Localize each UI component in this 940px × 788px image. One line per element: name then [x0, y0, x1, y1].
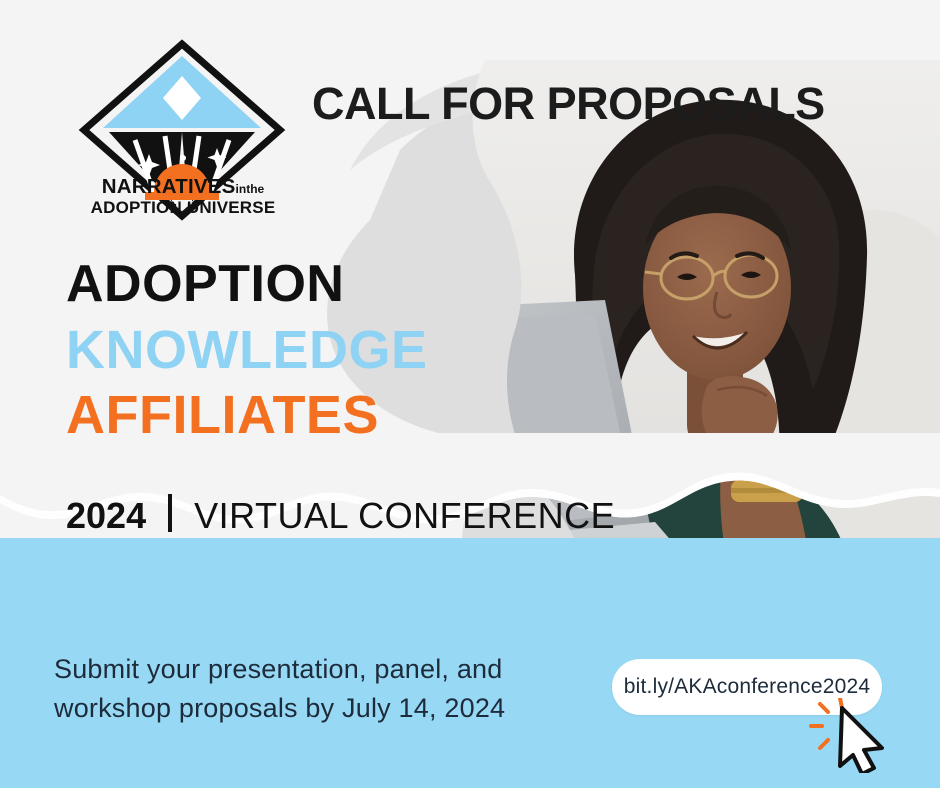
submission-instructions: Submit your presentation, panel, and wor… — [54, 650, 505, 728]
cta-line-1: Submit your presentation, panel, and — [54, 650, 505, 689]
event-subline: 2024 VIRTUAL CONFERENCE — [66, 490, 615, 537]
logo-line2: ADOPTION UNIVERSE — [72, 199, 294, 217]
logo-line1-main: NARRATIVES — [102, 175, 236, 198]
heading-affiliates: AFFILIATES — [66, 388, 379, 442]
event-year: 2024 — [66, 495, 146, 537]
logo-wordmark: NARRATIVESinthe ADOPTION UNIVERSE — [72, 176, 294, 216]
cta-line-2: workshop proposals by July 14, 2024 — [54, 689, 505, 728]
subline-divider — [168, 494, 172, 532]
heading-adoption: ADOPTION — [66, 258, 344, 310]
event-type: VIRTUAL CONFERENCE — [194, 495, 615, 537]
poster-canvas: NARRATIVESinthe ADOPTION UNIVERSE CALL F… — [0, 0, 940, 788]
call-for-proposals-title: CALL FOR PROPOSALS — [312, 78, 825, 130]
submission-link-label: bit.ly/AKAconference2024 — [624, 675, 870, 699]
logo-line1-small-the: the — [246, 182, 264, 196]
heading-knowledge: KNOWLEDGE — [66, 323, 428, 377]
mouse-cursor-icon — [806, 698, 896, 773]
logo-line1-small-in: in — [236, 182, 247, 196]
